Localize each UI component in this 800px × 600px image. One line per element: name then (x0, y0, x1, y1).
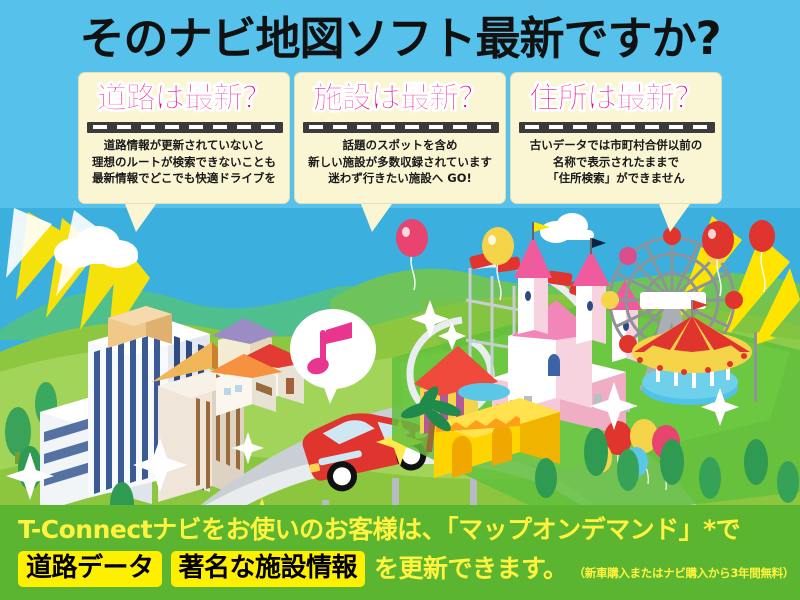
bubble-tail-road (125, 204, 156, 232)
promo-banner: T-Connectナビをお使いのお客様は、「マップオンデマンド」*で 道路データ… (0, 505, 800, 600)
banner-footnote: （新車購入またはナビ購入から3年間無料） (574, 565, 795, 581)
poster-root: そのナビ地図ソフト最新ですか? 道路は最新？ 道路情報が更新されていないと 理想… (0, 0, 800, 600)
chip-facility-info: 著名な施設情報 (171, 551, 366, 587)
banner-line-1: T-Connectナビをお使いのお客様は、「マップオンデマンド」*で (18, 514, 740, 546)
road-divider-icon (87, 122, 283, 133)
info-bubble-address: 住所は最新？ 古いデータでは市町村合併以前の 名称で表示されたままで 「住所検索… (510, 72, 722, 204)
info-bubble-road: 道路は最新？ 道路情報が更新されていないと 理想のルートが検索できないことも 最… (78, 72, 290, 204)
info-bubble-facility: 施設は最新？ 話題のスポットを含め 新しい施設が多数収録されています 迷わず行き… (294, 72, 506, 204)
banner-line-2-tail: を更新できます。 (374, 553, 568, 585)
page-title: そのナビ地図ソフト最新ですか? (0, 8, 800, 70)
chip-road-data: 道路データ (18, 551, 162, 587)
bubble-body-facility: 話題のスポットを含め 新しい施設が多数収録されています 迷わず行きたい施設へ G… (303, 137, 497, 187)
bubble-tail-facility (361, 204, 392, 232)
bubble-tail-address (659, 204, 690, 232)
banner-line-2: 道路データ 著名な施設情報 を更新できます。 （新車購入またはナビ購入から3年間… (18, 551, 794, 587)
bubble-title-road: 道路は最新？ (87, 79, 281, 119)
bubble-body-address: 古いデータでは市町村合併以前の 名称で表示されたままで 「住所検索」ができません (519, 137, 713, 187)
road-divider-icon (303, 122, 499, 133)
road-divider-icon (519, 122, 715, 133)
bubble-row: 道路は最新？ 道路情報が更新されていないと 理想のルートが検索できないことも 最… (0, 72, 800, 222)
bubble-title-facility: 施設は最新？ (303, 79, 497, 119)
bubble-title-address: 住所は最新？ (519, 79, 713, 119)
bubble-body-road: 道路情報が更新されていないと 理想のルートが検索できないことも 最新情報でどこで… (87, 137, 281, 187)
